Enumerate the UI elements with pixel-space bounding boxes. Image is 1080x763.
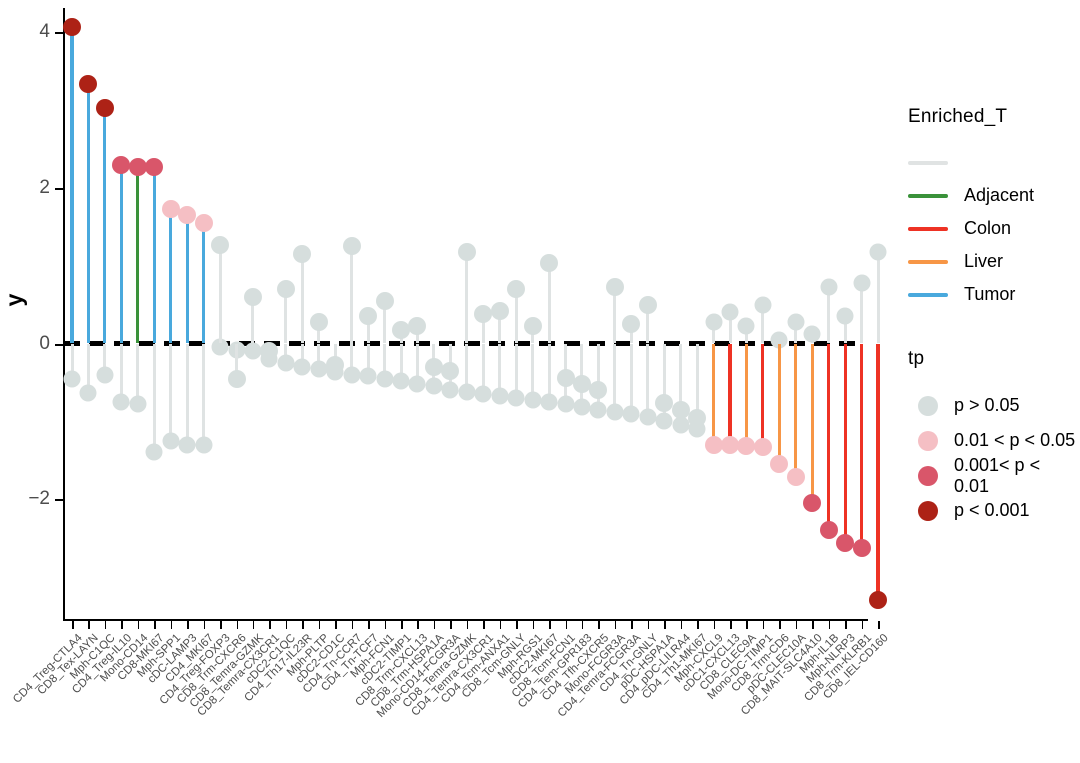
stem-line [103, 108, 106, 344]
stem-line [745, 344, 748, 447]
data-point[interactable] [63, 18, 81, 36]
data-point[interactable] [96, 366, 113, 383]
x-tick [204, 621, 206, 629]
data-point[interactable] [639, 409, 656, 426]
data-point[interactable] [360, 368, 377, 385]
data-point[interactable] [112, 156, 130, 174]
data-point[interactable] [721, 436, 739, 454]
x-tick [253, 621, 255, 629]
x-axis-label: Mph-NLRP3 [804, 632, 857, 685]
data-point[interactable] [64, 370, 81, 387]
data-point[interactable] [376, 370, 393, 387]
x-tick [500, 621, 502, 629]
data-point[interactable] [557, 369, 575, 387]
data-point[interactable] [343, 366, 360, 383]
x-axis-label: Mono-DC-TIMP1 [705, 632, 775, 702]
x-axis-label: Mph-CXCL9 [673, 632, 726, 685]
data-point[interactable] [145, 158, 163, 176]
stem-line [712, 344, 715, 445]
legend-swatch-line [908, 293, 948, 297]
x-tick [746, 621, 748, 629]
data-point[interactable] [589, 381, 607, 399]
x-axis-label: cDC1-CXCL13 [680, 632, 742, 694]
x-axis-label: CD8_IEL-CD160 [821, 632, 891, 702]
data-point[interactable] [590, 401, 607, 418]
x-tick [417, 621, 419, 629]
x-axis-label: cDC2-C1QC [244, 632, 298, 686]
x-axis-label: Mph-FCN1 [349, 632, 397, 680]
data-point[interactable] [310, 313, 328, 331]
x-axis-label: CD4_pDC-LILRA4 [618, 632, 693, 707]
data-point[interactable] [294, 358, 311, 375]
data-point[interactable] [672, 401, 690, 419]
data-point[interactable] [129, 396, 146, 413]
legend-swatch-line [908, 161, 948, 165]
x-tick [237, 621, 239, 629]
legend-enriched-items: AdjacentColonLiverTumor [908, 146, 1080, 311]
legend-item-enriched[interactable]: Tumor [908, 278, 1080, 311]
stem-line [827, 344, 830, 531]
stem-line [153, 344, 156, 453]
x-tick [533, 621, 535, 629]
data-point[interactable] [508, 389, 525, 406]
data-point[interactable] [442, 382, 459, 399]
legend-swatch-dot [918, 431, 938, 451]
legend-item-tp[interactable]: p > 0.05 [908, 388, 1080, 423]
x-axis-label: CD8_Tcm-GNLY [460, 632, 528, 700]
data-point[interactable] [524, 391, 541, 408]
stem-line [70, 27, 73, 344]
x-axis-label: cDC2-MKI67 [507, 632, 562, 687]
x-tick [598, 621, 600, 629]
x-tick [714, 621, 716, 629]
legend-item-label: p > 0.05 [954, 395, 1020, 416]
data-point[interactable] [129, 158, 147, 176]
x-tick [549, 621, 551, 629]
x-axis-label: Mono-CD14 [98, 632, 150, 684]
data-point[interactable] [441, 362, 459, 380]
legend-item-tp[interactable]: 0.001< p < 0.01 [908, 458, 1080, 493]
data-point[interactable] [639, 296, 657, 314]
x-axis-label: CD4_Tn-TCF7 [319, 632, 381, 694]
legend-swatch-line [908, 194, 948, 198]
x-tick [516, 621, 518, 629]
x-axis-label: pDC-CLEC10A [745, 632, 809, 696]
x-tick [72, 621, 74, 629]
y-tick [55, 32, 64, 34]
data-point[interactable] [507, 280, 525, 298]
x-axis-label: CD8_Tex-LAYN [36, 632, 101, 697]
data-point[interactable] [277, 354, 294, 371]
stem-line [778, 344, 781, 465]
y-tick [55, 188, 64, 190]
data-point[interactable] [359, 307, 377, 325]
y-tick-label: 4 [0, 21, 50, 43]
data-point[interactable] [425, 378, 442, 395]
stem-line [613, 344, 616, 412]
data-point[interactable] [541, 393, 558, 410]
x-tick [779, 621, 781, 629]
legend-swatch-dot [918, 501, 938, 521]
x-axis-label: cDC2-TIMP1 [358, 632, 413, 687]
data-point[interactable] [853, 274, 870, 291]
data-point[interactable] [458, 243, 476, 261]
stem-line [548, 263, 551, 344]
data-point[interactable] [491, 302, 509, 320]
legend-item-label: Colon [964, 218, 1011, 239]
x-axis-label: CD8_Trm-CXCR6 [175, 632, 249, 706]
data-point[interactable] [343, 237, 361, 255]
data-point[interactable] [820, 521, 838, 539]
data-point[interactable] [277, 280, 295, 298]
data-point[interactable] [211, 236, 229, 254]
y-tick-label: 2 [0, 177, 50, 199]
data-point[interactable] [179, 436, 196, 453]
data-point[interactable] [688, 409, 706, 427]
x-tick [582, 621, 584, 629]
data-point[interactable] [113, 393, 130, 410]
data-point[interactable] [870, 243, 887, 260]
data-point[interactable] [540, 254, 558, 272]
x-tick [681, 621, 683, 629]
x-axis-label: Mph-C1QC [68, 632, 118, 682]
data-point[interactable] [146, 444, 163, 461]
x-axis-label: CD8_MAIT-SLC4A10 [739, 632, 825, 718]
stem-line [202, 223, 205, 344]
x-tick [138, 621, 140, 629]
stem-line [630, 344, 633, 414]
x-axis-label: pDC-HSPA1A [618, 632, 677, 691]
stem-line [120, 165, 123, 344]
legend-item-enriched[interactable]: Adjacent [908, 179, 1080, 212]
data-point[interactable] [754, 296, 771, 313]
x-axis-label: CD8-MKI67 [116, 632, 167, 683]
data-point[interactable] [737, 437, 755, 455]
x-axis-label: CD4_Temra-FCGR3A [556, 632, 644, 720]
x-axis-label: Mph-RGS1 [496, 632, 545, 681]
x-tick [385, 621, 387, 629]
data-point[interactable] [622, 315, 640, 333]
x-tick [401, 621, 403, 629]
stem-line [202, 344, 205, 445]
data-point[interactable] [162, 200, 180, 218]
data-point[interactable] [836, 534, 854, 552]
x-tick [829, 621, 831, 629]
x-tick [730, 621, 732, 629]
legend-swatch-line [908, 260, 948, 264]
data-point[interactable] [738, 318, 755, 335]
data-point[interactable] [705, 436, 723, 454]
data-point[interactable] [804, 326, 821, 343]
x-axis-label: CD4_Treg-FOXP3 [157, 632, 232, 707]
x-axis-label: Mph-PLTP [284, 632, 331, 679]
data-point[interactable] [672, 417, 689, 434]
stem-line [761, 344, 764, 447]
legend-item-label: Liver [964, 251, 1003, 272]
legend-item-label: Adjacent [964, 185, 1034, 206]
x-tick [187, 621, 189, 629]
data-point[interactable] [820, 279, 837, 296]
x-tick [154, 621, 156, 629]
x-tick [286, 621, 288, 629]
stem-line [169, 209, 172, 344]
x-tick [319, 621, 321, 629]
x-axis-label: Mph-SPP1 [135, 632, 183, 680]
x-tick [88, 621, 90, 629]
stem-line [860, 283, 863, 344]
x-tick [697, 621, 699, 629]
data-point[interactable] [655, 394, 673, 412]
x-tick [631, 621, 633, 629]
data-point[interactable] [408, 317, 426, 335]
x-tick [845, 621, 847, 629]
data-point[interactable] [79, 75, 97, 93]
x-axis-label: CD4_Tem-GPR183 [516, 632, 595, 711]
data-point[interactable] [80, 384, 97, 401]
x-tick [467, 621, 469, 629]
legend-item-tp[interactable]: 0.01 < p < 0.05 [908, 423, 1080, 458]
x-tick [434, 621, 436, 629]
legend-item-label: 0.01 < p < 0.05 [954, 430, 1075, 451]
stem-line [301, 254, 304, 343]
x-axis-label: CD4_Tn-CCR7 [301, 632, 365, 696]
x-axis-label: CD4_Th1-MKI67 [640, 632, 710, 702]
x-tick [664, 621, 666, 629]
data-point[interactable] [869, 591, 887, 609]
data-point[interactable] [310, 361, 327, 378]
legend-item-label: Tumor [964, 284, 1015, 305]
data-point[interactable] [656, 413, 673, 430]
data-point[interactable] [475, 386, 492, 403]
x-axis-label: Mono-CD14-FCGR3A [375, 632, 463, 720]
data-point[interactable] [409, 375, 426, 392]
stem-line [794, 344, 797, 478]
x-axis-label: CD8_Trm-CXCL13 [353, 632, 430, 709]
legend-swatch-dot [918, 466, 938, 486]
x-tick [566, 621, 568, 629]
x-tick [812, 621, 814, 629]
data-point[interactable] [837, 308, 854, 325]
plot-area [64, 8, 864, 608]
stem-line [728, 344, 731, 445]
x-axis-label: CD4_MKI67 [163, 632, 216, 685]
x-tick [878, 621, 880, 629]
data-point[interactable] [162, 432, 179, 449]
stem-line [153, 167, 156, 344]
legend-tp: tp p > 0.050.01 < p < 0.050.001< p < 0.0… [908, 348, 1080, 528]
stem-line [877, 252, 880, 344]
data-point[interactable] [606, 403, 623, 420]
data-point[interactable] [425, 358, 443, 376]
data-point[interactable] [524, 317, 542, 335]
data-point[interactable] [623, 405, 640, 422]
x-tick [862, 621, 864, 629]
x-tick [352, 621, 354, 629]
x-axis-label: CD8_Temra-GZMK [187, 632, 265, 710]
data-point[interactable] [293, 245, 311, 263]
y-axis-title: y [1, 294, 28, 307]
x-tick [368, 621, 370, 629]
x-axis-label: CD4_Tfh-CXCR5 [540, 632, 611, 703]
legend-item-tp[interactable]: p < 0.001 [908, 493, 1080, 528]
data-point[interactable] [787, 313, 804, 330]
stem-line [844, 344, 847, 544]
legend-enriched-title: Enriched_T [908, 106, 1080, 128]
x-axis-label: CD8_Trm-CD6 [729, 632, 791, 694]
data-point[interactable] [606, 278, 624, 296]
data-point[interactable] [474, 305, 492, 323]
data-point[interactable] [260, 342, 278, 360]
stem-line [186, 344, 189, 445]
chart-root: y −2024 CD4_Treg-CTLA4CD8_Tex-LAYNMph-C1… [0, 0, 1080, 763]
data-point[interactable] [557, 396, 574, 413]
data-point[interactable] [244, 343, 261, 360]
data-point[interactable] [573, 375, 591, 393]
legend-swatch-line [908, 227, 948, 231]
x-tick [763, 621, 765, 629]
x-tick [335, 621, 337, 629]
data-point[interactable] [770, 455, 788, 473]
data-point[interactable] [393, 372, 410, 389]
x-axis-label: cDC2-CD1C [294, 632, 348, 686]
x-axis-label: CD4_Temra-CX3CR1 [409, 632, 496, 719]
stem-line [696, 344, 699, 419]
data-point[interactable] [754, 438, 772, 456]
data-point[interactable] [787, 468, 805, 486]
x-tick [220, 621, 222, 629]
data-point[interactable] [178, 206, 196, 224]
x-axis-label: CD8_CLEC9A [698, 632, 759, 693]
data-point[interactable] [803, 494, 821, 512]
x-axis-label: CD8_Temra-GZMK [401, 632, 479, 710]
x-tick [171, 621, 173, 629]
x-axis-label: CD8_Temra-CX3CR1 [195, 632, 282, 719]
data-point[interactable] [244, 288, 262, 306]
x-axis-label: CD4_Treg-CTLA4 [11, 632, 85, 706]
x-axis-label: CD8_Trm-KLRB1 [802, 632, 874, 704]
x-axis-label: CD8_Trm-HSPA1A [369, 632, 447, 710]
x-axis-label: CD4_Th17-IL23R [243, 632, 315, 704]
legend-swatch-dot [918, 396, 938, 416]
x-tick [450, 621, 452, 629]
legend-tp-title: tp [908, 348, 1080, 370]
x-axis-label: Mph-IL1B [797, 632, 841, 676]
stem-line [350, 246, 353, 343]
legend-item-label: 0.001< p < 0.01 [954, 455, 1080, 497]
data-point[interactable] [326, 356, 344, 374]
stem-line [860, 344, 863, 549]
data-point[interactable] [722, 304, 739, 321]
stem-line [811, 344, 814, 503]
stem-line [646, 344, 649, 418]
x-axis-label: CD8_Tcm-FCN1 [510, 632, 578, 700]
x-tick [269, 621, 271, 629]
x-axis-label: CD4_Treg-IL10 [70, 632, 134, 696]
data-point[interactable] [195, 214, 213, 232]
x-tick [121, 621, 123, 629]
stem-line [169, 344, 172, 441]
y-tick [55, 344, 64, 346]
x-tick [105, 621, 107, 629]
legend-item-enriched[interactable] [908, 146, 1080, 179]
y-tick [55, 499, 64, 501]
x-tick [302, 621, 304, 629]
stem-line [219, 245, 222, 344]
y-tick-label: −2 [0, 488, 50, 510]
data-point[interactable] [228, 370, 246, 388]
legend-item-enriched[interactable]: Liver [908, 245, 1080, 278]
x-axis-label: cDC-LAMP3 [146, 632, 200, 686]
legend-item-label: p < 0.001 [954, 500, 1030, 521]
x-tick [483, 621, 485, 629]
data-point[interactable] [458, 383, 475, 400]
data-point[interactable] [853, 539, 871, 557]
stem-line [136, 167, 139, 344]
data-point[interactable] [705, 313, 722, 330]
stem-line [186, 215, 189, 343]
data-point[interactable] [195, 436, 212, 453]
stem-line [465, 252, 468, 344]
data-point[interactable] [573, 399, 590, 416]
x-tick [648, 621, 650, 629]
x-axis-label: CD4_Tcm-ANXA1 [439, 632, 513, 706]
x-tick [796, 621, 798, 629]
stem-line [87, 84, 90, 343]
legend-item-enriched[interactable]: Colon [908, 212, 1080, 245]
x-axis-label: Mono-FCGR3A [563, 632, 628, 697]
data-point[interactable] [96, 99, 114, 117]
x-tick [615, 621, 617, 629]
stem-line [876, 344, 879, 601]
legend-enriched-t: Enriched_T AdjacentColonLiverTumor [908, 106, 1080, 311]
x-axis-label: CD4_Tn-GNLY [597, 632, 660, 695]
y-tick-label: 0 [0, 333, 50, 355]
data-point[interactable] [392, 321, 410, 339]
legend-tp-items: p > 0.050.01 < p < 0.050.001< p < 0.01p … [908, 388, 1080, 528]
data-point[interactable] [491, 388, 508, 405]
data-point[interactable] [376, 292, 394, 310]
